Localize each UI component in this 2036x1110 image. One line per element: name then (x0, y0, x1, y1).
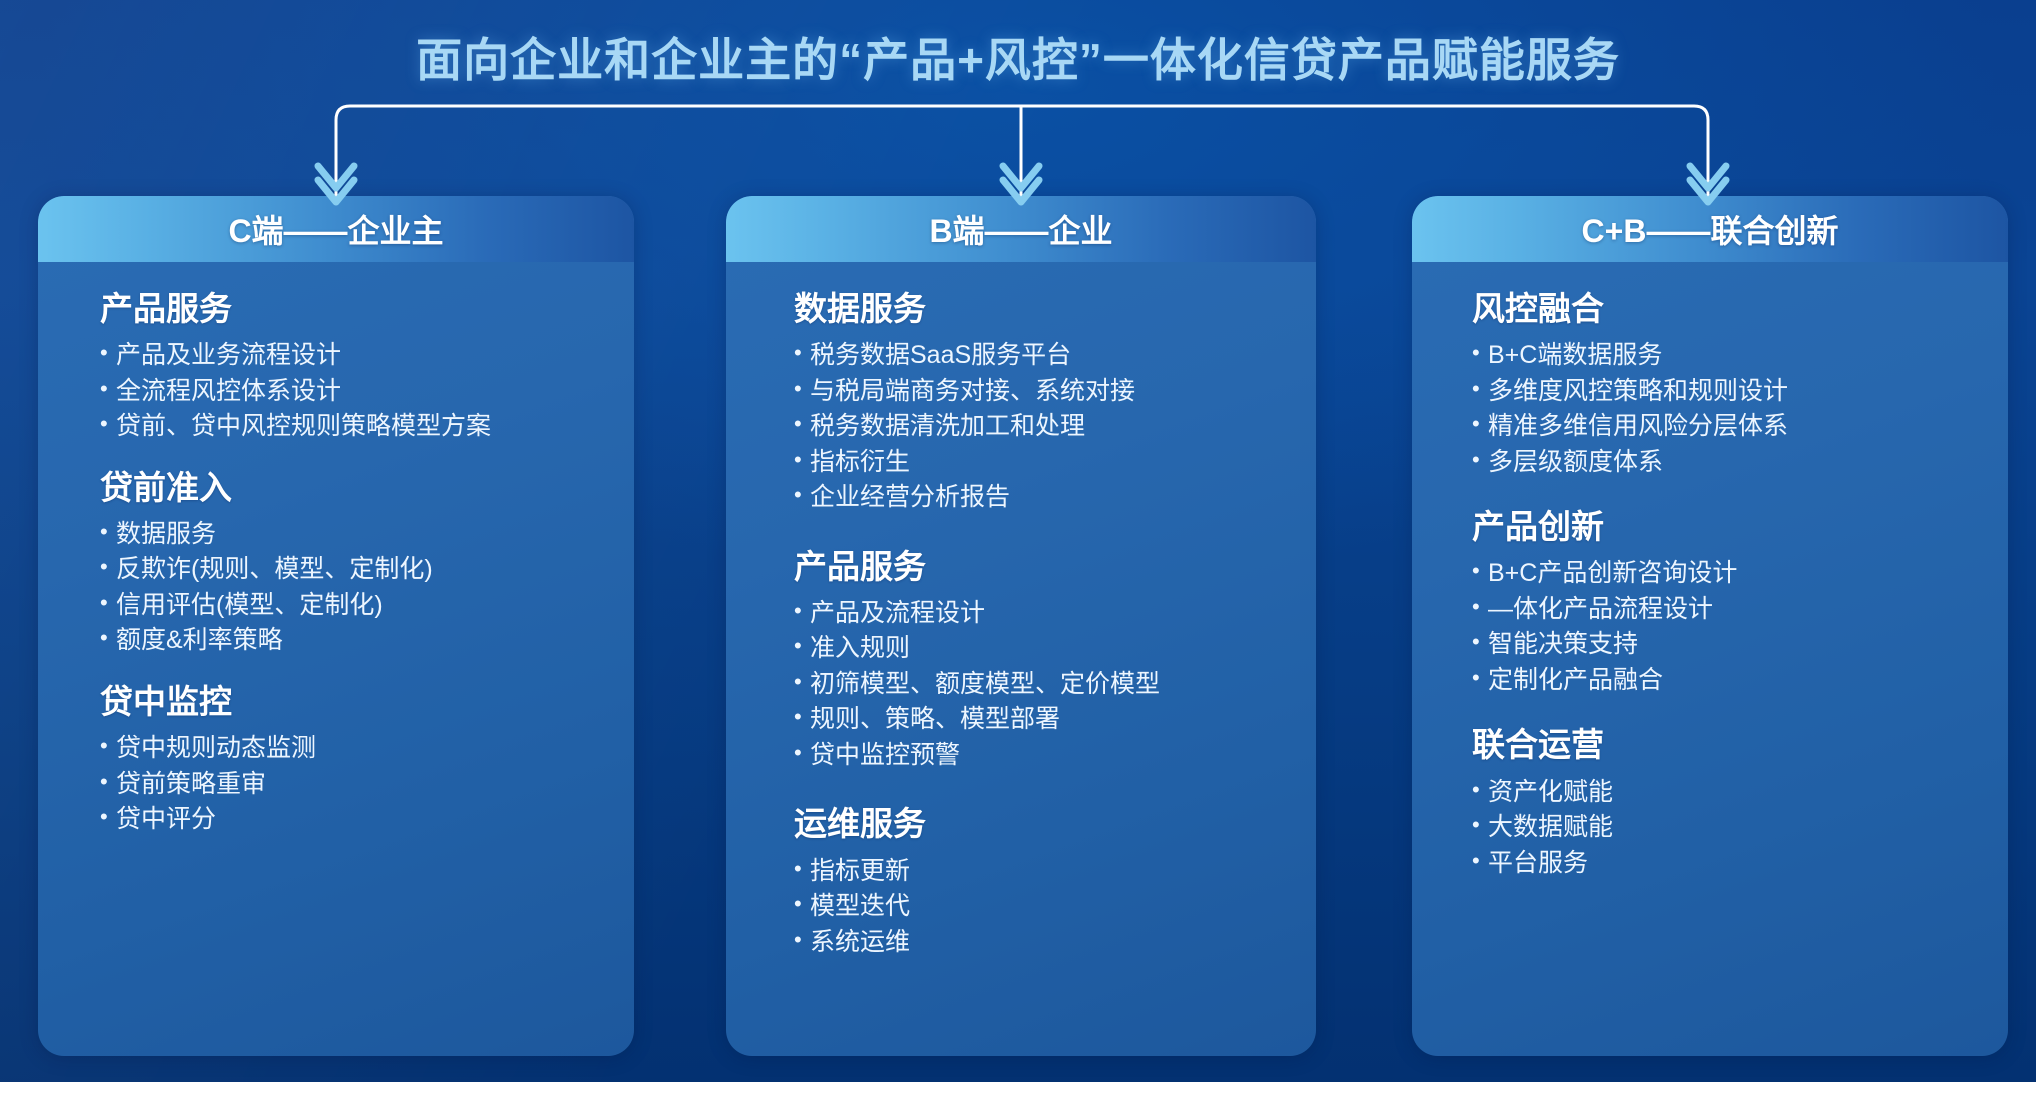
list-item: 智能决策支持 (1472, 627, 2008, 663)
list-item: 反欺诈(规则、模型、定制化) (100, 552, 634, 588)
section: 运维服务 指标更新 模型迭代 系统运维 (794, 803, 1316, 960)
bullet-list: 贷中规则动态监测 贷前策略重审 贷中评分 (100, 731, 634, 838)
list-item: B+C产品创新咨询设计 (1472, 556, 2008, 592)
bullet-list: 产品及业务流程设计 全流程风控体系设计 贷前、贷中风控规则策略模型方案 (100, 338, 634, 445)
list-item: 额度&利率策略 (100, 623, 634, 659)
section-title: 产品服务 (794, 546, 1316, 588)
column-card-b-end[interactable]: B端——企业 数据服务 税务数据SaaS服务平台 与税局端商务对接、系统对接 税… (726, 196, 1316, 1056)
list-item: 产品及流程设计 (794, 596, 1316, 632)
list-item: B+C端数据服务 (1472, 338, 2008, 374)
column-card-c-end[interactable]: C端——企业主 产品服务 产品及业务流程设计 全流程风控体系设计 贷前、贷中风控… (38, 196, 634, 1056)
section-title: 运维服务 (794, 803, 1316, 845)
bullet-list: 数据服务 反欺诈(规则、模型、定制化) 信用评估(模型、定制化) 额度&利率策略 (100, 517, 634, 659)
column-header-label: C+B——联合创新 (1582, 206, 1839, 252)
bottom-strip (0, 1082, 2036, 1110)
section: 产品服务 产品及业务流程设计 全流程风控体系设计 贷前、贷中风控规则策略模型方案 (100, 288, 634, 445)
section-title: 贷前准入 (100, 467, 634, 509)
list-item: 产品及业务流程设计 (100, 338, 634, 374)
section-title: 联合运营 (1472, 724, 2008, 766)
list-item: 信用评估(模型、定制化) (100, 588, 634, 624)
list-item: 税务数据清洗加工和处理 (794, 409, 1316, 445)
list-item: 多维度风控策略和规则设计 (1472, 374, 2008, 410)
list-item: 企业经营分析报告 (794, 480, 1316, 516)
section: 联合运营 资产化赋能 大数据赋能 平台服务 (1472, 724, 2008, 881)
list-item: 指标更新 (794, 854, 1316, 890)
section-title: 数据服务 (794, 288, 1316, 330)
list-item: 贷前策略重审 (100, 767, 634, 803)
column-body-b-end: 数据服务 税务数据SaaS服务平台 与税局端商务对接、系统对接 税务数据清洗加工… (726, 262, 1316, 960)
list-item: 初筛模型、额度模型、定价模型 (794, 667, 1316, 703)
list-item: 规则、策略、模型部署 (794, 702, 1316, 738)
column-body-c-plus-b: 风控融合 B+C端数据服务 多维度风控策略和规则设计 精准多维信用风险分层体系 … (1412, 262, 2008, 881)
section-title: 产品创新 (1472, 506, 2008, 548)
column-header-label: C端——企业主 (228, 206, 443, 252)
list-item: 平台服务 (1472, 846, 2008, 882)
bullet-list: B+C端数据服务 多维度风控策略和规则设计 精准多维信用风险分层体系 多层级额度… (1472, 338, 2008, 480)
section-title: 产品服务 (100, 288, 634, 330)
column-body-c-end: 产品服务 产品及业务流程设计 全流程风控体系设计 贷前、贷中风控规则策略模型方案… (38, 262, 634, 838)
list-item: 准入规则 (794, 631, 1316, 667)
list-item: 贷中规则动态监测 (100, 731, 634, 767)
list-item: 指标衍生 (794, 445, 1316, 481)
column-card-c-plus-b[interactable]: C+B——联合创新 风控融合 B+C端数据服务 多维度风控策略和规则设计 精准多… (1412, 196, 2008, 1056)
list-item: 大数据赋能 (1472, 810, 2008, 846)
bullet-list: 税务数据SaaS服务平台 与税局端商务对接、系统对接 税务数据清洗加工和处理 指… (794, 338, 1316, 516)
list-item: 资产化赋能 (1472, 775, 2008, 811)
list-item: 定制化产品融合 (1472, 663, 2008, 699)
list-item: 精准多维信用风险分层体系 (1472, 409, 2008, 445)
bullet-list: 资产化赋能 大数据赋能 平台服务 (1472, 775, 2008, 882)
list-item: —体化产品流程设计 (1472, 592, 2008, 628)
list-item: 贷中监控预警 (794, 738, 1316, 774)
section: 产品服务 产品及流程设计 准入规则 初筛模型、额度模型、定价模型 规则、策略、模… (794, 546, 1316, 774)
bullet-list: B+C产品创新咨询设计 —体化产品流程设计 智能决策支持 定制化产品融合 (1472, 556, 2008, 698)
section-title: 风控融合 (1472, 288, 2008, 330)
list-item: 与税局端商务对接、系统对接 (794, 374, 1316, 410)
section: 贷中监控 贷中规则动态监测 贷前策略重审 贷中评分 (100, 681, 634, 838)
connector-diagram (0, 96, 2036, 206)
list-item: 多层级额度体系 (1472, 445, 2008, 481)
list-item: 系统运维 (794, 925, 1316, 961)
page-title: 面向企业和企业主的“产品+风控”一体化信贷产品赋能服务 (0, 24, 2036, 90)
list-item: 税务数据SaaS服务平台 (794, 338, 1316, 374)
section: 风控融合 B+C端数据服务 多维度风控策略和规则设计 精准多维信用风险分层体系 … (1472, 288, 2008, 480)
list-item: 全流程风控体系设计 (100, 374, 634, 410)
column-header-label: B端——企业 (929, 206, 1112, 252)
list-item: 数据服务 (100, 517, 634, 553)
slide-canvas: 面向企业和企业主的“产品+风控”一体化信贷产品赋能服务 C端——企业主 产品服务 (0, 0, 2036, 1110)
section-title: 贷中监控 (100, 681, 634, 723)
bullet-list: 指标更新 模型迭代 系统运维 (794, 854, 1316, 961)
bullet-list: 产品及流程设计 准入规则 初筛模型、额度模型、定价模型 规则、策略、模型部署 贷… (794, 596, 1316, 774)
section: 贷前准入 数据服务 反欺诈(规则、模型、定制化) 信用评估(模型、定制化) 额度… (100, 467, 634, 659)
list-item: 贷前、贷中风控规则策略模型方案 (100, 409, 634, 445)
list-item: 贷中评分 (100, 802, 634, 838)
section: 产品创新 B+C产品创新咨询设计 —体化产品流程设计 智能决策支持 定制化产品融… (1472, 506, 2008, 698)
section: 数据服务 税务数据SaaS服务平台 与税局端商务对接、系统对接 税务数据清洗加工… (794, 288, 1316, 516)
list-item: 模型迭代 (794, 889, 1316, 925)
